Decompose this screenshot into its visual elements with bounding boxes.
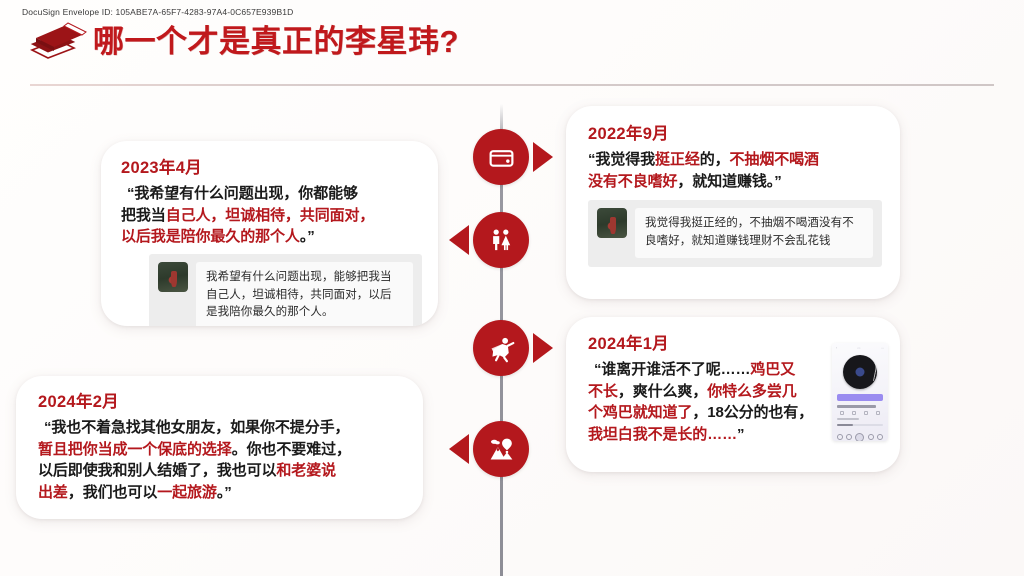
couple-icon	[487, 226, 515, 254]
chat-message: 我觉得我挺正经的，不抽烟不喝酒没有不良嗜好，就知道赚钱理财不会乱花钱	[635, 208, 873, 258]
slide-header: 哪一个才是真正的李星玮?	[0, 18, 1024, 68]
timeline-arrow-left-2	[449, 434, 469, 464]
player-statusbar: ‹▭⋯	[832, 343, 888, 350]
timeline-card-2024-02[interactable]: 2024年2月 “我也不着急找其他女朋友，如果你不提分手， 暂且把你当成一个保底…	[16, 376, 423, 519]
chat-message: 我希望有什么问题出现，能够把我当自己人，坦诚相待，共同面对，以后是我陪你最久的那…	[196, 262, 413, 326]
timeline-card-2023-04[interactable]: 2023年4月 “我希望有什么问题出现，你都能够 把我当自己人，坦诚相待，共同面…	[101, 141, 438, 326]
chat-avatar	[597, 208, 627, 238]
player-action-icons	[836, 411, 884, 415]
books-icon	[28, 20, 94, 64]
player-highlight-bar	[837, 394, 883, 401]
timeline-arrow-left-1	[449, 225, 469, 255]
timeline-node-superhero[interactable]	[473, 320, 529, 376]
card-quote: “谁离开谁活不了呢……鸡巴又 不长，爽什么爽，你特么多尝几 个鸡巴就知道了，18…	[588, 359, 838, 445]
wallet-icon	[487, 143, 516, 172]
player-seekbar[interactable]	[837, 424, 883, 426]
embedded-chat-screenshot: 我希望有什么问题出现，能够把我当自己人，坦诚相待，共同面对，以后是我陪你最久的那…	[149, 254, 422, 326]
timeline-arrow-right-1	[533, 142, 553, 172]
header-divider	[30, 84, 994, 86]
timeline-node-travel[interactable]	[473, 421, 529, 477]
travel-balloon-icon	[487, 435, 516, 464]
vinyl-record-icon	[843, 355, 877, 389]
chat-avatar	[158, 262, 188, 292]
music-player-screenshot: ‹▭⋯	[832, 343, 888, 441]
timeline-node-couple[interactable]	[473, 212, 529, 268]
timeline-node-wallet[interactable]	[473, 129, 529, 185]
docusign-envelope-id: DocuSign Envelope ID: 105ABE7A-65F7-4283…	[22, 7, 293, 17]
timeline-card-2024-01[interactable]: 2024年1月 “谁离开谁活不了呢……鸡巴又 不长，爽什么爽，你特么多尝几 个鸡…	[566, 317, 900, 472]
embedded-chat-screenshot: 我觉得我挺正经的，不抽烟不喝酒没有不良嗜好，就知道赚钱理财不会乱花钱	[588, 200, 882, 267]
card-date: 2024年2月	[38, 388, 407, 412]
card-date: 2022年9月	[588, 120, 882, 144]
player-track-sub	[837, 418, 859, 420]
card-quote: “我觉得我挺正经的，不抽烟不喝酒 没有不良嗜好，就知道赚钱。”	[588, 149, 882, 192]
player-controls[interactable]	[832, 430, 888, 442]
timeline-arrow-right-2	[533, 333, 553, 363]
card-date: 2023年4月	[121, 154, 422, 178]
timeline-card-2022-09[interactable]: 2022年9月 “我觉得我挺正经的，不抽烟不喝酒 没有不良嗜好，就知道赚钱。” …	[566, 106, 900, 299]
card-quote: “我也不着急找其他女朋友，如果你不提分手， 暂且把你当成一个保底的选择。你也不要…	[38, 417, 407, 503]
card-quote: “我希望有什么问题出现，你都能够 把我当自己人，坦诚相待，共同面对， 以后我是陪…	[121, 183, 422, 248]
page-title: 哪一个才是真正的李星玮?	[93, 16, 459, 61]
superhero-icon	[487, 334, 516, 363]
slide-canvas: DocuSign Envelope ID: 105ABE7A-65F7-4283…	[0, 0, 1024, 576]
player-track-title	[837, 405, 876, 408]
